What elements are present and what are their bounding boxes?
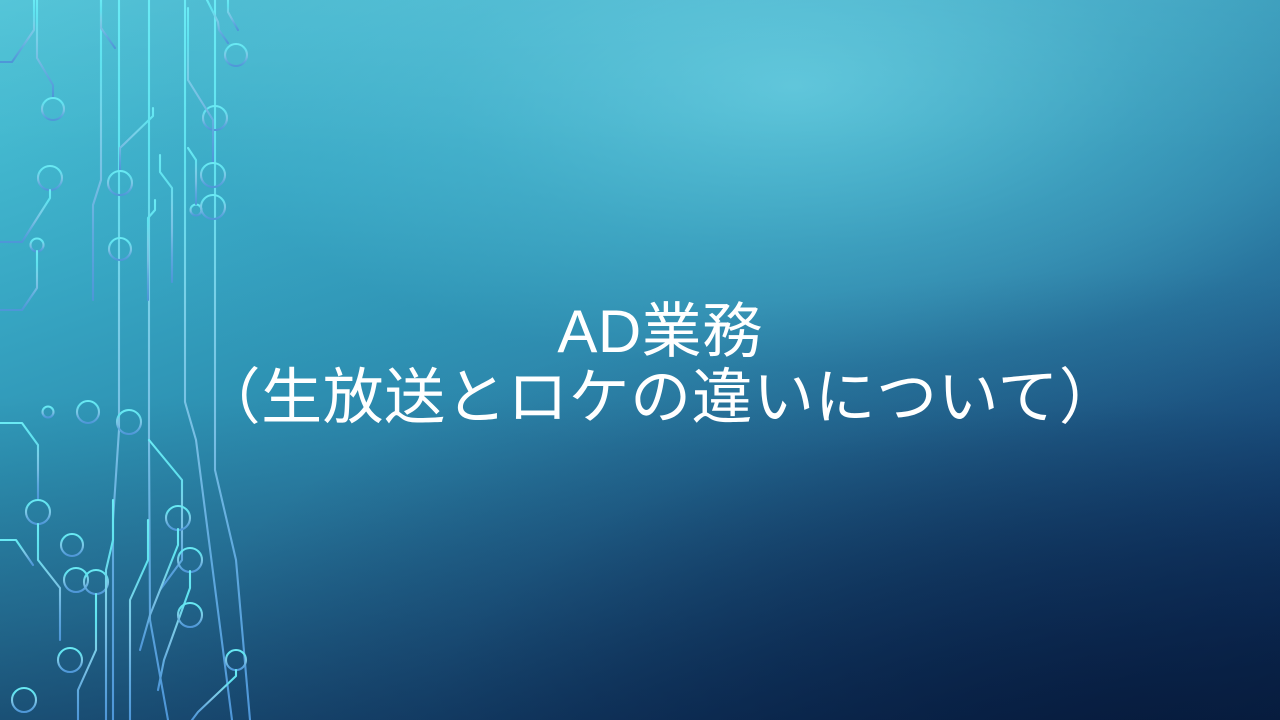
title-line-1: AD業務 — [160, 300, 1160, 365]
title-line-2: （生放送とロケの違いについて） — [160, 365, 1160, 431]
slide-title: AD業務 （生放送とロケの違いについて） — [160, 300, 1160, 431]
presentation-slide: AD業務 （生放送とロケの違いについて） — [0, 0, 1280, 720]
